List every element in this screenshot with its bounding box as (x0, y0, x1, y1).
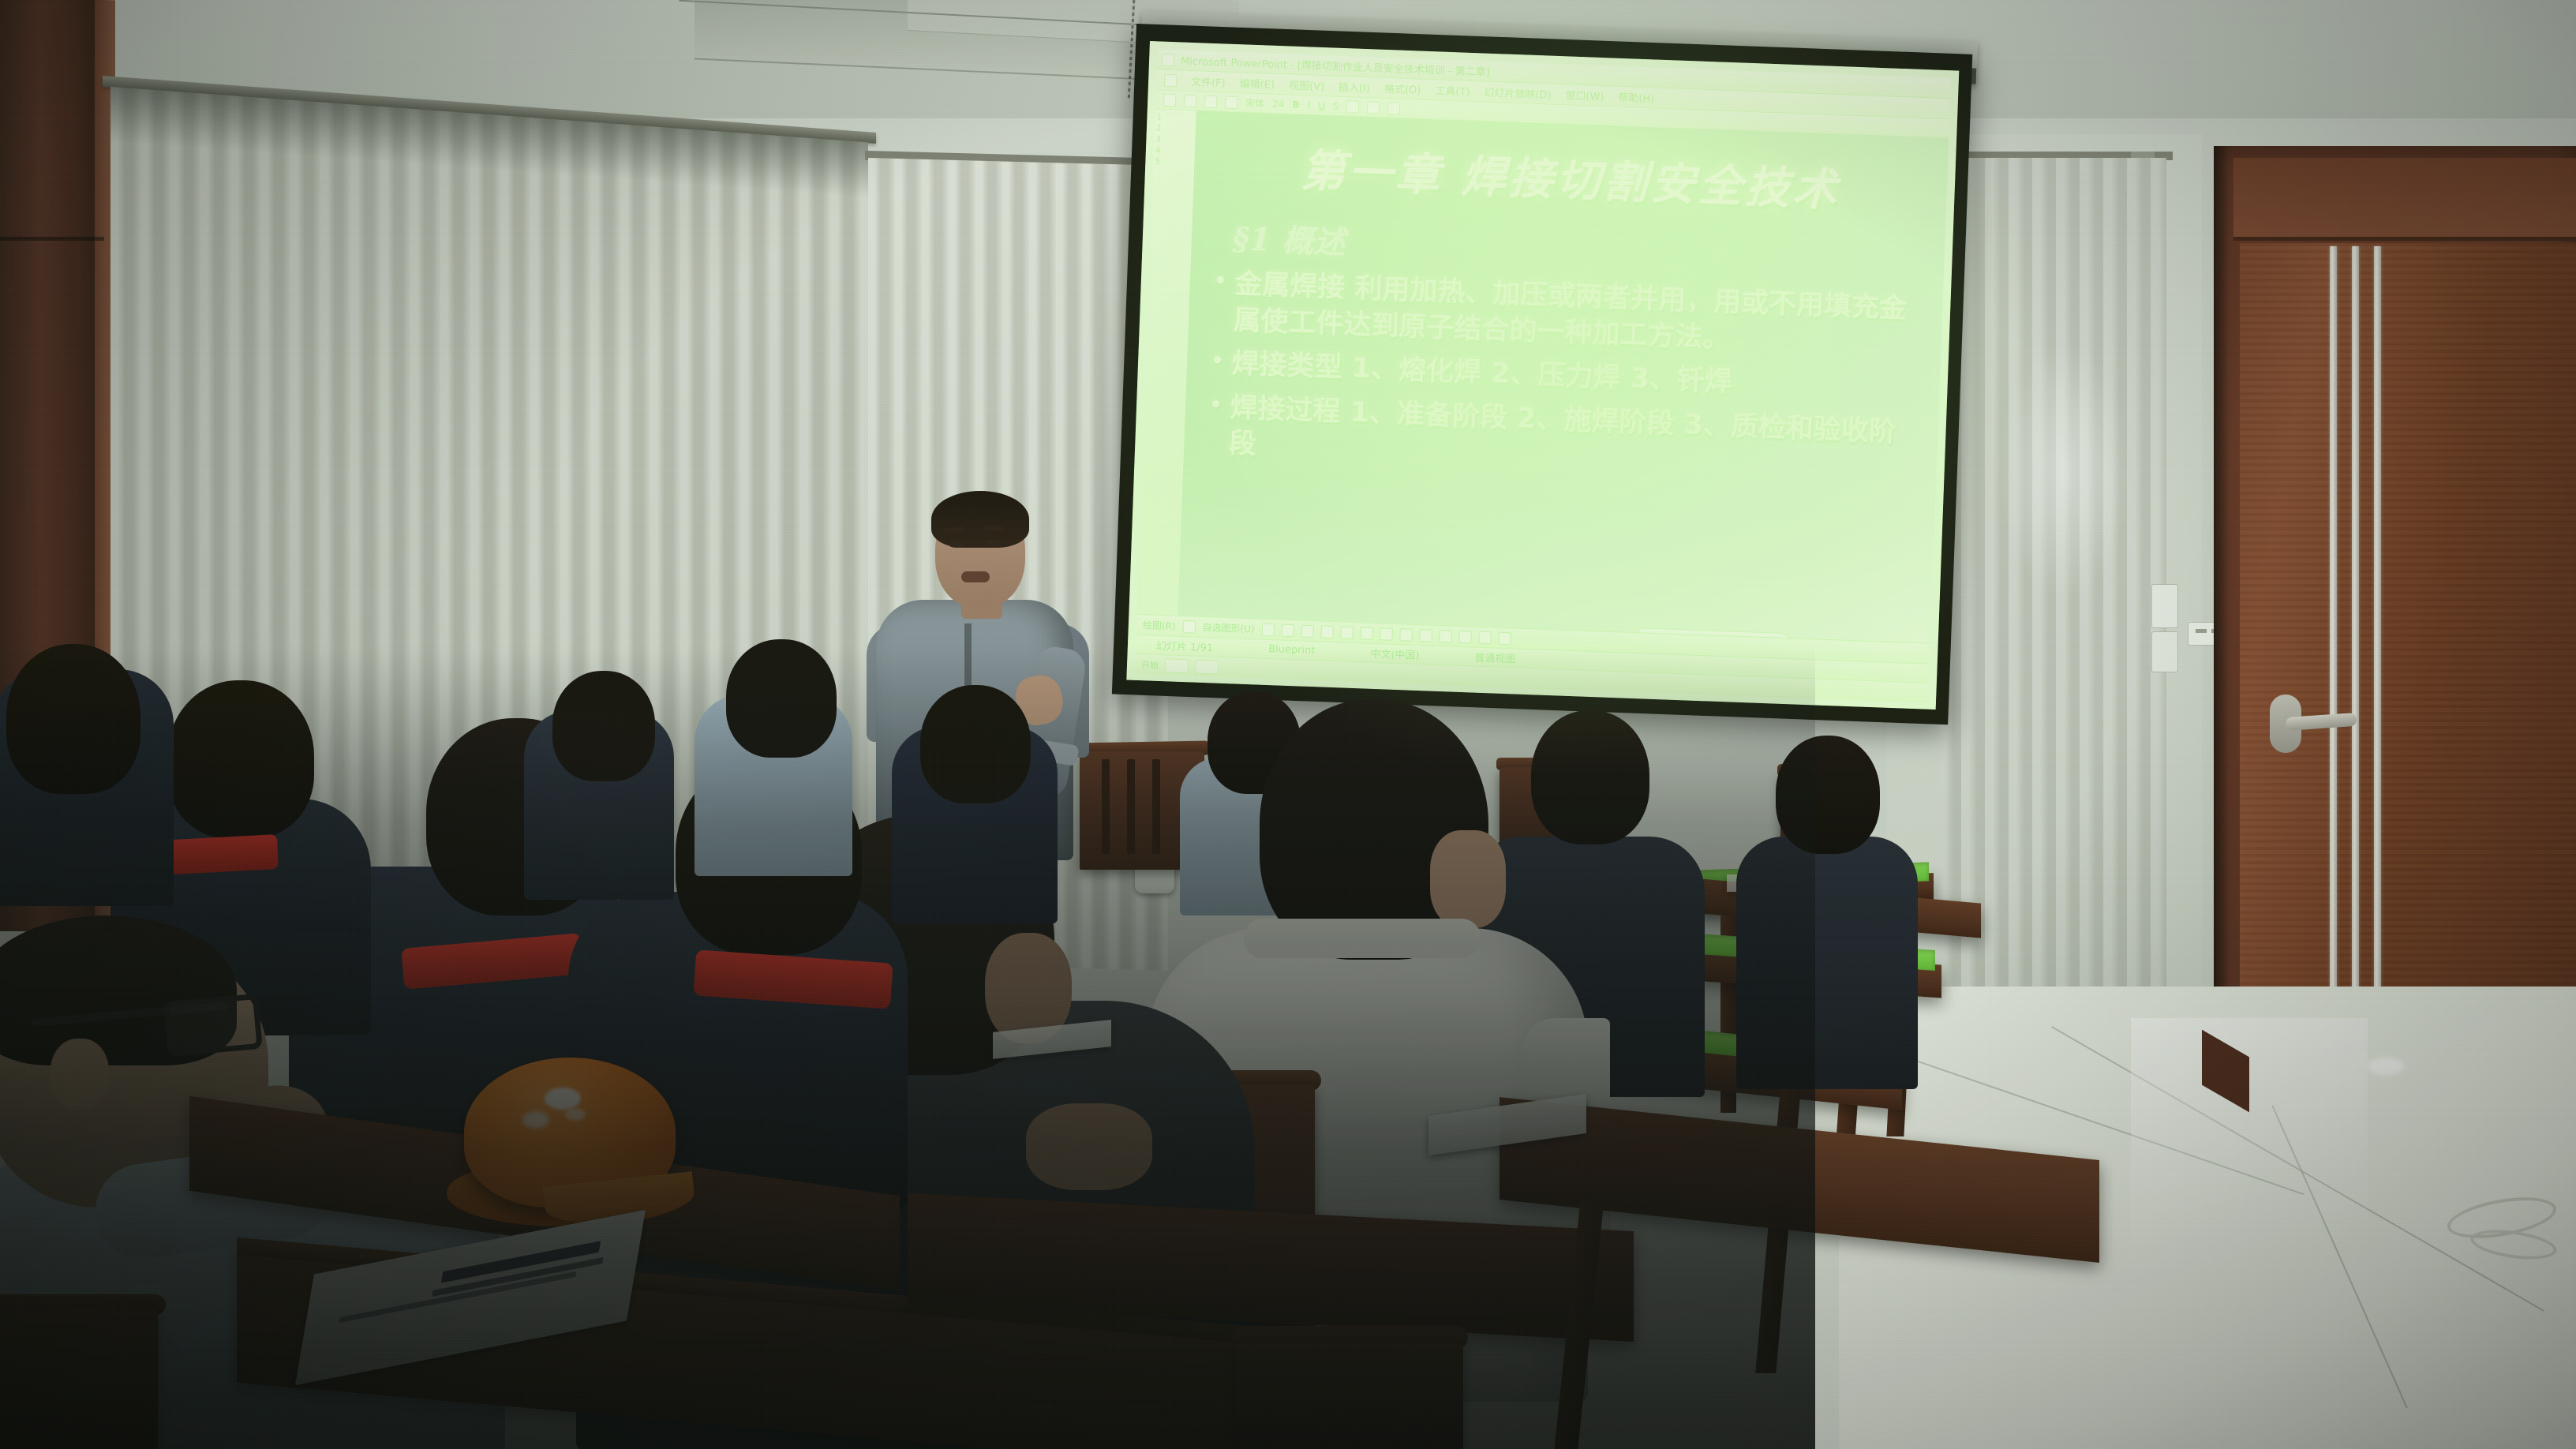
rectangle-icon[interactable] (1301, 624, 1314, 638)
hard-hat-highlight-2 (522, 1111, 549, 1129)
slide-section-heading: §1 概述 (1232, 213, 1346, 263)
status-language: 中文(中国) (1370, 646, 1420, 662)
door-frame-shadow (2214, 146, 2230, 1081)
light-switch-plate-lower[interactable] (2151, 631, 2178, 672)
italic-button[interactable]: I (1307, 99, 1310, 110)
shadow-style-icon[interactable] (1478, 631, 1492, 644)
hard-hat-highlight-3 (565, 1108, 586, 1121)
select-arrow-icon[interactable] (1182, 620, 1196, 634)
slide-thumb-5[interactable]: 5 (1155, 156, 1193, 169)
underline-button[interactable]: U (1318, 99, 1325, 110)
arrow-icon[interactable] (1281, 623, 1294, 637)
attendee-midrow-head-1 (552, 671, 655, 781)
attendee-front-left-ear (51, 1039, 109, 1110)
chair-foreground-right[interactable] (1236, 1342, 1463, 1449)
drawing-menu-button[interactable]: 绘图(R) (1143, 618, 1176, 633)
document-icon (1164, 73, 1178, 87)
print-icon[interactable] (1225, 95, 1238, 109)
presenter-mouth (961, 571, 990, 582)
textbox-icon[interactable] (1340, 626, 1354, 639)
presenter-hair (931, 491, 1029, 548)
window-daylight-glow (1997, 339, 2131, 600)
wordart-icon[interactable] (1360, 627, 1373, 640)
bullet-marker-icon: • (1213, 266, 1227, 298)
attendee-far-right-torso (1736, 837, 1918, 1089)
attendee-white-shirt-ear-cheek (1430, 830, 1506, 928)
door-stripe-3 (2374, 246, 2381, 1076)
chair-slat (1152, 759, 1160, 854)
projection-screen-surface: Microsoft PowerPoint - [焊接切割作业人员安全技术培训 -… (1126, 41, 1959, 710)
chair-foreground-left[interactable] (0, 1307, 158, 1449)
bold-button[interactable]: B (1292, 99, 1300, 110)
attendee-far-right-head (1776, 736, 1880, 854)
align-center-icon[interactable] (1367, 101, 1380, 114)
door-stripe-2 (2352, 246, 2359, 1076)
bullet-marker-icon: • (1208, 390, 1222, 421)
hard-hat-highlight-1 (545, 1088, 581, 1110)
chair-slat (1127, 759, 1135, 854)
menu-item-file[interactable]: 文件(F) (1191, 73, 1226, 90)
floor-specular-highlight (2368, 1058, 2404, 1075)
attendee-front-center-hand (1026, 1103, 1152, 1190)
slide-title: 第一章 焊接切割安全技术 (1193, 131, 1948, 223)
outlet-slot-left (2196, 629, 2207, 633)
save-icon[interactable] (1204, 95, 1218, 108)
autoshapes-button[interactable]: 自选图形(U) (1202, 620, 1255, 635)
menu-item-window[interactable]: 窗口(W) (1565, 87, 1604, 103)
presentation-slide: 第一章 焊接切割安全技术 §1 概述 • 金属焊接 利用加热、加压或两者并用，用… (1178, 110, 1949, 643)
left-wood-panel-seam (0, 237, 104, 241)
start-button[interactable]: 开始 (1141, 658, 1159, 672)
door-stripe-1 (2330, 246, 2337, 1076)
menu-item-tools[interactable]: 工具(T) (1435, 82, 1470, 99)
line-color-icon[interactable] (1419, 629, 1432, 642)
slide-bullet-item: • 焊接过程 1、准备阶段 2、施焊阶段 3、质检和验收阶段 (1207, 390, 1920, 488)
slide-bullet-text-3: 焊接过程 1、准备阶段 2、施焊阶段 3、质检和验收阶段 (1228, 391, 1919, 488)
status-slide-number: 幻灯片 1/91 (1156, 638, 1214, 655)
attendee-white-shirt-collar (1244, 919, 1481, 958)
shadow-button[interactable]: S (1333, 100, 1339, 111)
powerpoint-app-icon (1162, 53, 1175, 66)
menu-item-view[interactable]: 视图(V) (1289, 77, 1325, 93)
align-left-icon[interactable] (1346, 100, 1360, 114)
oval-icon[interactable] (1320, 625, 1334, 638)
classroom-photo-scene: Microsoft PowerPoint - [焊接切割作业人员安全技术培训 -… (0, 0, 2576, 1449)
bullet-list-icon[interactable] (1387, 102, 1401, 115)
door-transom-panel (2233, 158, 2576, 241)
taskbar-item-2[interactable] (1195, 659, 1219, 674)
light-switch-plate-upper[interactable] (2151, 584, 2178, 628)
presenter-eye-left (949, 541, 964, 548)
fill-color-icon[interactable] (1399, 628, 1413, 642)
eyeglasses-lens (163, 994, 263, 1057)
presenter-eye-right (987, 540, 1002, 546)
slide-bullet-text-1: 金属焊接 利用加热、加压或两者并用，用或不用填充金属使工件达到原子结合的一种加工… (1233, 267, 1924, 364)
wooden-entry-door[interactable] (2240, 243, 2576, 1076)
attendee-navy-uniform-head-3 (167, 680, 314, 838)
status-view-mode: 普通视图 (1474, 650, 1516, 666)
menu-item-slideshow[interactable]: 幻灯片放映(D) (1484, 84, 1552, 102)
floor-reflection (2131, 1018, 2368, 1428)
line-style-icon[interactable] (1458, 630, 1472, 643)
status-template-name: Blueprint (1268, 643, 1316, 657)
attendee-back-right-head (1531, 710, 1649, 844)
attendee-midrow-head-2 (920, 685, 1031, 803)
slide-bullet-list: • 金属焊接 利用加热、加压或两者并用，用或不用填充金属使工件达到原子结合的一种… (1207, 266, 1924, 495)
menu-item-format[interactable]: 格式(O) (1384, 80, 1421, 97)
bullet-marker-icon: • (1210, 346, 1224, 377)
menu-item-help[interactable]: 帮助(H) (1618, 89, 1655, 106)
font-color-icon[interactable] (1439, 629, 1452, 642)
chair-slat (1102, 759, 1110, 854)
3d-style-icon[interactable] (1498, 631, 1511, 645)
taskbar-item-1[interactable] (1165, 658, 1189, 673)
font-name-select[interactable]: 宋体 (1245, 96, 1265, 110)
new-file-icon[interactable] (1163, 93, 1177, 107)
menu-item-edit[interactable]: 编辑(E) (1239, 75, 1275, 92)
open-file-icon[interactable] (1184, 94, 1197, 107)
line-icon[interactable] (1261, 623, 1275, 636)
font-size-select[interactable]: 24 (1272, 98, 1285, 110)
clipart-icon[interactable] (1380, 627, 1393, 641)
menu-item-insert[interactable]: 插入(I) (1339, 79, 1371, 95)
attendee-far-left-head (6, 644, 140, 794)
attendee-midrow-lightshirt-head (726, 639, 837, 758)
